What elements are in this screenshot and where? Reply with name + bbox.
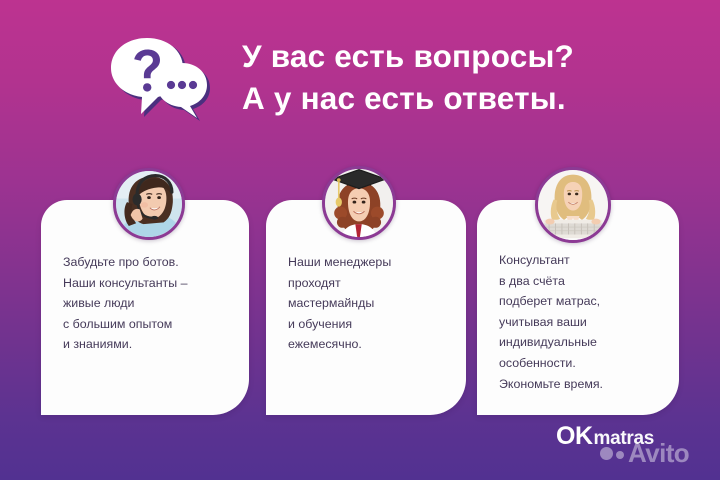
headline-line-2: А у нас есть ответы. xyxy=(242,78,574,120)
avatar-woman-mattress xyxy=(535,167,611,243)
card-text-line: мастермайнды xyxy=(288,293,454,314)
card-text-line: и обучения xyxy=(288,314,454,335)
logo-ok-text: OK xyxy=(556,424,593,449)
card-text-line: Консультант xyxy=(499,250,667,271)
card-text-line: и знаниями. xyxy=(63,334,237,355)
card-text-line: живые люди xyxy=(63,293,237,314)
question-speech-bubbles-icon xyxy=(104,35,212,121)
okmatras-logo[interactable]: OK matras xyxy=(556,424,654,449)
card-text-line: Экономьте время. xyxy=(499,374,667,395)
page-title: У вас есть вопросы? А у нас есть ответы. xyxy=(242,36,574,120)
card-text-line: Забудьте про ботов. xyxy=(63,252,237,273)
card-text-line: в два счёта xyxy=(499,271,667,292)
card-text-line: индивидуальные xyxy=(499,332,667,353)
feature-card-3-text: Консультант в два счёта подберет матрас,… xyxy=(499,250,667,394)
card-text-line: ежемесячно. xyxy=(288,334,454,355)
card-text-line: Наши менеджеры xyxy=(288,252,454,273)
card-text-line: проходят xyxy=(288,273,454,294)
feature-card-2-text: Наши менеджеры проходят мастермайнды и о… xyxy=(288,252,454,355)
headline-line-1: У вас есть вопросы? xyxy=(242,36,574,78)
logo-matras-text: matras xyxy=(594,429,655,448)
card-text-line: Наши консультанты – xyxy=(63,273,237,294)
header: У вас есть вопросы? А у нас есть ответы. xyxy=(0,28,720,128)
avatar-consultant-headset xyxy=(113,168,185,240)
feature-card-1-text: Забудьте про ботов. Наши консультанты – … xyxy=(63,252,237,355)
card-text-line: подберет матрас, xyxy=(499,291,667,312)
card-text-line: учитывая ваши xyxy=(499,312,667,333)
card-text-line: с большим опытом xyxy=(63,314,237,335)
avatar-manager-graduate xyxy=(322,166,396,240)
card-text-line: особенности. xyxy=(499,353,667,374)
